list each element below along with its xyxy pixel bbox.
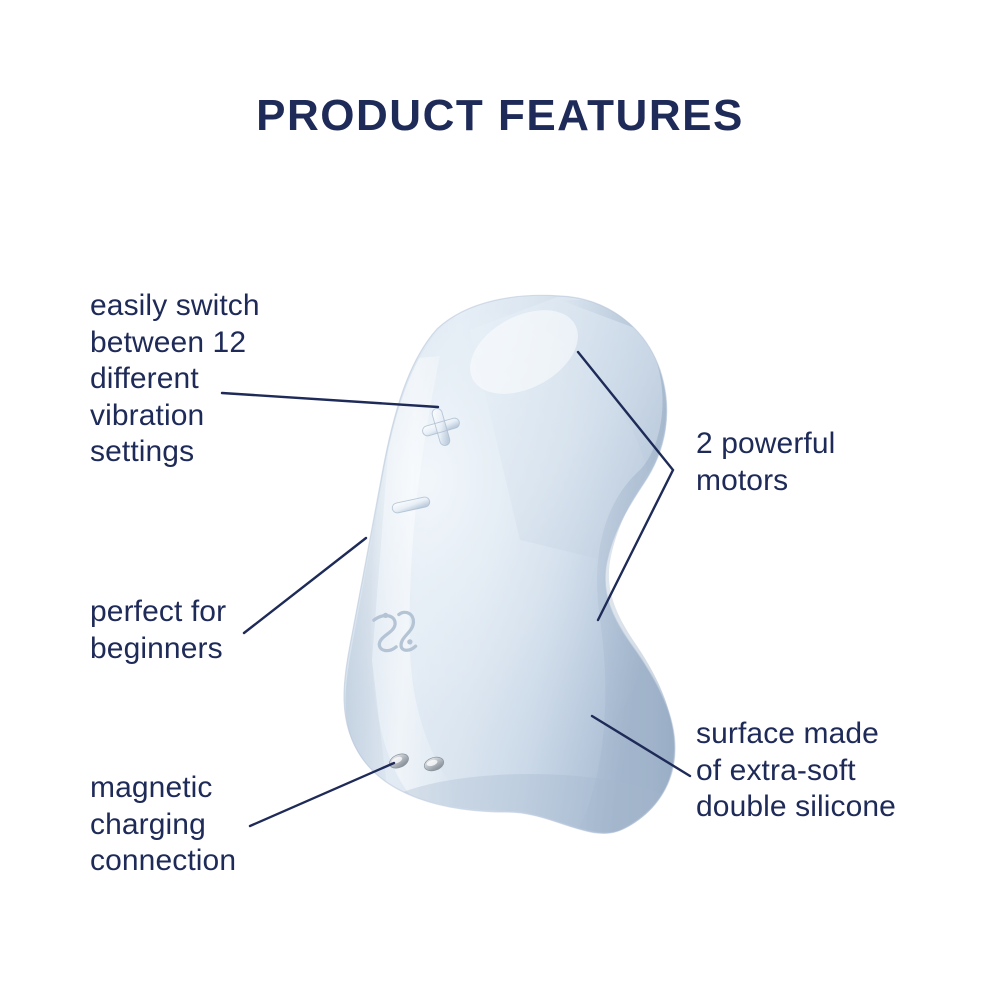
- callout-magnetic-charging: magnetic charging connection: [90, 770, 340, 880]
- bottom-shadow: [370, 774, 690, 866]
- callout-silicone: surface made of extra-soft double silico…: [696, 716, 966, 826]
- product-features-infographic: PRODUCT FEATURES: [0, 0, 1000, 1000]
- callout-beginners: perfect for beginners: [90, 594, 340, 667]
- product-body: [280, 293, 690, 866]
- callout-vibration-settings: easily switch between 12 different vibra…: [90, 288, 340, 471]
- callout-motors: 2 powerful motors: [696, 426, 956, 499]
